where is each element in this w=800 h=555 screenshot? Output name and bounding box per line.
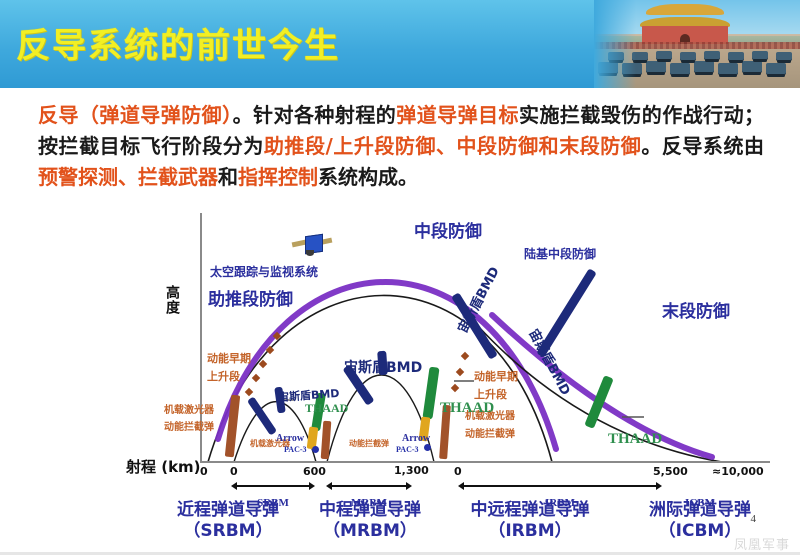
text-segment: 反导（弹道导弹防御） <box>38 103 233 127</box>
y-axis-label: 高度 <box>162 285 182 315</box>
category-name-mrbm-cn: 中程弹道导弹 <box>290 500 450 521</box>
range-bar-mrbm <box>332 485 406 487</box>
annotation-terminal-defense: 末段防御 <box>662 297 730 322</box>
x-tick-5: 5,500 <box>653 465 688 478</box>
category-name-irbm-abbr: （IRBM） <box>440 521 620 542</box>
category-name-irbm-cn: 中远程弹道导弹 <box>440 500 620 521</box>
x-axis-label: 射程 (km) <box>126 456 201 477</box>
page-number: 4 <box>751 513 757 525</box>
page-title: 反导系统的前世今生 <box>16 18 340 67</box>
x-tick-6: ≈10,000 <box>712 465 764 478</box>
x-tick-0: 0 <box>200 465 208 478</box>
body-paragraph: 反导（弹道导弹防御）。针对各种射程的弹道导弹目标实施拦截毁伤的作战行动；按拦截目… <box>38 100 764 193</box>
x-tick-1: 0 <box>230 465 238 478</box>
category-name-mrbm-abbr: （MRBM） <box>290 521 450 542</box>
photo-gradient-fade <box>594 0 636 88</box>
text-segment: 弹道导弹目标 <box>396 103 519 127</box>
label-aegis-2: 宙斯盾BMD <box>344 357 422 377</box>
annotation-kei-2: 动能拦截弹 <box>465 425 515 440</box>
text-segment: 预警探测、拦截武器 <box>38 165 218 189</box>
category-name-srbm-cn: 近程弹道导弹 <box>148 500 308 521</box>
annotation-ke-early-ascent-1: 动能早期 <box>207 350 251 366</box>
x-tick-4: 0 <box>454 465 462 478</box>
category-name-irbm: 中远程弹道导弹 （IRBM） <box>440 500 620 542</box>
text-segment: 系统构成。 <box>318 165 418 189</box>
text-segment: 指挥控制 <box>238 165 318 189</box>
category-name-srbm: 近程弹道导弹 （SRBM） <box>148 500 308 542</box>
label-thaad-1: THAAD <box>305 401 348 416</box>
pac3-marker <box>312 446 319 453</box>
category-name-srbm-abbr: （SRBM） <box>148 521 308 542</box>
annotation-kei-mid: 动能拦截弹 <box>349 438 389 449</box>
ballistic-missile-defense-diagram: 高度 射程 (km) 太空跟踪与监视系统 助推段防御 中段防御 陆基中段防御 末… <box>22 205 778 535</box>
label-arrow-2: Arrow <box>402 433 430 444</box>
text-segment: 。针对各种射程的 <box>233 103 397 127</box>
annotation-ke-early-ascent-2: 动能早期 <box>474 368 518 384</box>
range-bar-irbm <box>464 485 656 487</box>
header-photo <box>594 0 800 88</box>
slide-header: 反导系统的前世今生 <box>0 0 800 88</box>
annotation-space-tracking: 太空跟踪与监视系统 <box>210 263 318 280</box>
annotation-midcourse-defense: 中段防御 <box>414 217 482 242</box>
x-axis-line <box>200 461 770 463</box>
annotation-kei-1: 动能拦截弹 <box>164 418 214 433</box>
label-pac3-1: PAC-3 <box>284 445 307 454</box>
x-tick-3: 1,300 <box>394 465 418 476</box>
text-segment: 和 <box>218 165 238 189</box>
category-name-icbm-cn: 洲际弹道导弹 <box>620 500 780 521</box>
label-thaad-2: THAAD <box>440 400 494 417</box>
annotation-gbmd: 陆基中段防御 <box>524 245 596 262</box>
label-arrow-1: Arrow <box>276 433 304 444</box>
pac3-marker <box>424 444 431 451</box>
satellite-icon <box>294 231 328 257</box>
annotation-boost-defense: 助推段防御 <box>208 285 293 310</box>
text-segment: 助推段/上升段防御、中段防御和末段防御 <box>264 134 641 158</box>
range-bar-srbm <box>237 485 309 487</box>
label-pac3-2: PAC-3 <box>396 445 419 454</box>
annotation-abl-1: 机载激光器 <box>164 401 214 416</box>
tiananmen-gate-icon <box>640 4 730 44</box>
x-tick-2: 600 <box>303 465 326 478</box>
label-thaad-3: THAAD <box>608 431 662 448</box>
category-name-mrbm: 中程弹道导弹 （MRBM） <box>290 500 450 542</box>
annotation-ke-ascent-1: 上升段 <box>207 368 240 384</box>
text-segment: 。反导系统由 <box>641 134 764 158</box>
watermark: 凤凰军事 <box>734 534 790 553</box>
